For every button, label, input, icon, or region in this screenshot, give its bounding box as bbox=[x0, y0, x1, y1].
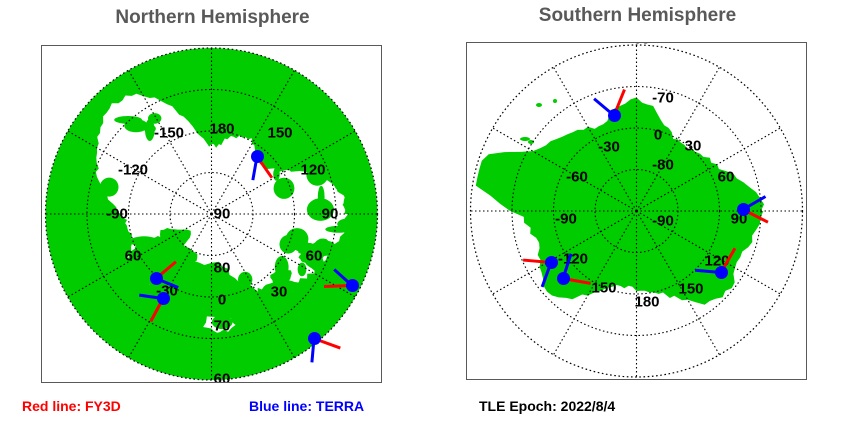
satellite-dot bbox=[346, 279, 359, 292]
grid-label: -90 bbox=[652, 214, 674, 229]
grid-label: 60 bbox=[306, 249, 323, 264]
satellite-dot bbox=[715, 266, 728, 279]
southern-hemisphere-panel: Southern Hemisphere -60-70030-3060-6090-… bbox=[425, 0, 850, 425]
satellite-dot bbox=[545, 256, 558, 269]
grid-label: 180 bbox=[634, 295, 659, 310]
grid-label: 150 bbox=[678, 282, 703, 297]
grid-label: -60 bbox=[566, 170, 588, 185]
northern-hemisphere-plot[interactable]: 180150-150120-12090-90606030-30090807060 bbox=[41, 45, 382, 383]
grid-label: 70 bbox=[214, 319, 231, 334]
northern-hemisphere-panel: Northern Hemisphere 180150-150120-12090-… bbox=[0, 0, 425, 425]
satellite-dot bbox=[608, 109, 621, 122]
satellite-dot bbox=[557, 272, 570, 285]
grid-label: -90 bbox=[555, 212, 577, 227]
grid-label: 90 bbox=[214, 207, 231, 222]
grid-label: -150 bbox=[154, 126, 184, 141]
grid-label: 30 bbox=[685, 139, 702, 154]
grid-label: 90 bbox=[322, 207, 339, 222]
grid-label: 60 bbox=[125, 249, 142, 264]
satellite-dot bbox=[251, 150, 264, 163]
grid-label: 180 bbox=[209, 122, 234, 137]
satellite-dot bbox=[737, 203, 750, 216]
southern-hemisphere-map bbox=[467, 43, 806, 379]
northern-hemisphere-title: Northern Hemisphere bbox=[0, 7, 425, 29]
grid-label: -60 bbox=[628, 42, 650, 47]
satellite-dot bbox=[150, 272, 163, 285]
grid-label: 0 bbox=[218, 293, 226, 308]
grid-label: -90 bbox=[106, 207, 128, 222]
legend-blue-line-terra: Blue line: TERRA bbox=[249, 398, 364, 414]
grid-label: -30 bbox=[598, 140, 620, 155]
grid-label: -70 bbox=[652, 91, 674, 106]
satellite-dot bbox=[308, 332, 321, 345]
grid-label: 150 bbox=[267, 126, 292, 141]
grid-label: 150 bbox=[591, 281, 616, 296]
grid-label: -80 bbox=[652, 158, 674, 173]
grid-label: -120 bbox=[558, 252, 588, 267]
grid-label: -120 bbox=[118, 163, 148, 178]
grid-label: 120 bbox=[300, 163, 325, 178]
southern-hemisphere-title: Southern Hemisphere bbox=[425, 5, 850, 27]
grid-label: 60 bbox=[214, 372, 231, 384]
southern-hemisphere-plot[interactable]: -60-70030-3060-6090-90-80-90120-12015015… bbox=[466, 42, 807, 380]
grid-label: 60 bbox=[718, 170, 735, 185]
tle-epoch-label: TLE Epoch: 2022/8/4 bbox=[479, 398, 615, 414]
grid-label: 0 bbox=[654, 128, 662, 143]
grid-label: 80 bbox=[214, 261, 231, 276]
legend-red-line-fy3d: Red line: FY3D bbox=[22, 398, 121, 414]
grid-label: 30 bbox=[271, 285, 288, 300]
satellite-dot bbox=[157, 292, 170, 305]
